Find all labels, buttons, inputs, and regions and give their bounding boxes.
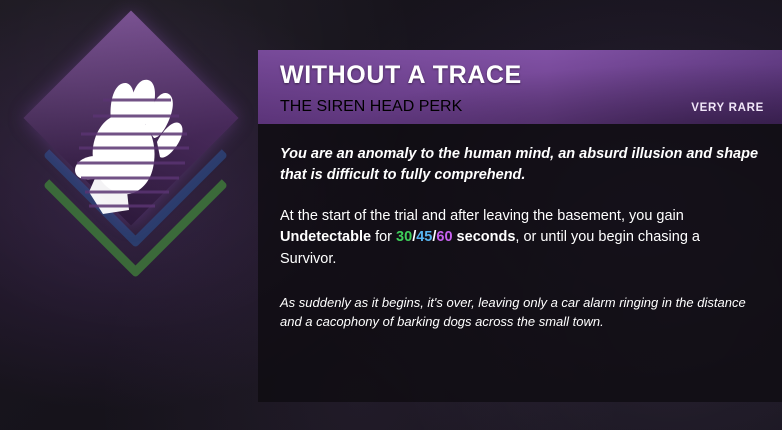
perk-detail-screen: WITHOUT A TRACE THE SIREN HEAD PERK VERY… [0,0,782,430]
perk-owner-label: THE SIREN HEAD PERK [280,98,462,116]
perk-meta-row: THE SIREN HEAD PERK VERY RARE [280,98,764,116]
status-badge: VERY RARE [691,102,764,114]
perk-info-panel: WITHOUT A TRACE THE SIREN HEAD PERK VERY… [258,50,782,390]
perk-description: At the start of the trial and after leav… [280,206,760,271]
perk-icon [18,24,243,334]
perk-flavor-top: You are an anomaly to the human mind, an… [280,144,760,186]
tier-2-value: 45 [416,229,432,245]
tier-1-value: 30 [396,229,412,245]
desc-part-3: seconds [453,229,516,245]
perk-body: You are an anomaly to the human mind, an… [258,124,782,402]
perk-header: WITHOUT A TRACE THE SIREN HEAD PERK VERY… [258,50,782,124]
page-title: WITHOUT A TRACE [280,62,764,90]
desc-part-2: for [371,229,396,245]
perk-flavor-bottom: As suddenly as it begins, it's over, lea… [280,293,760,332]
status-effect-undetectable: Undetectable [280,229,371,245]
tier-3-value: 60 [436,229,452,245]
desc-part-1: At the start of the trial and after leav… [280,208,684,224]
